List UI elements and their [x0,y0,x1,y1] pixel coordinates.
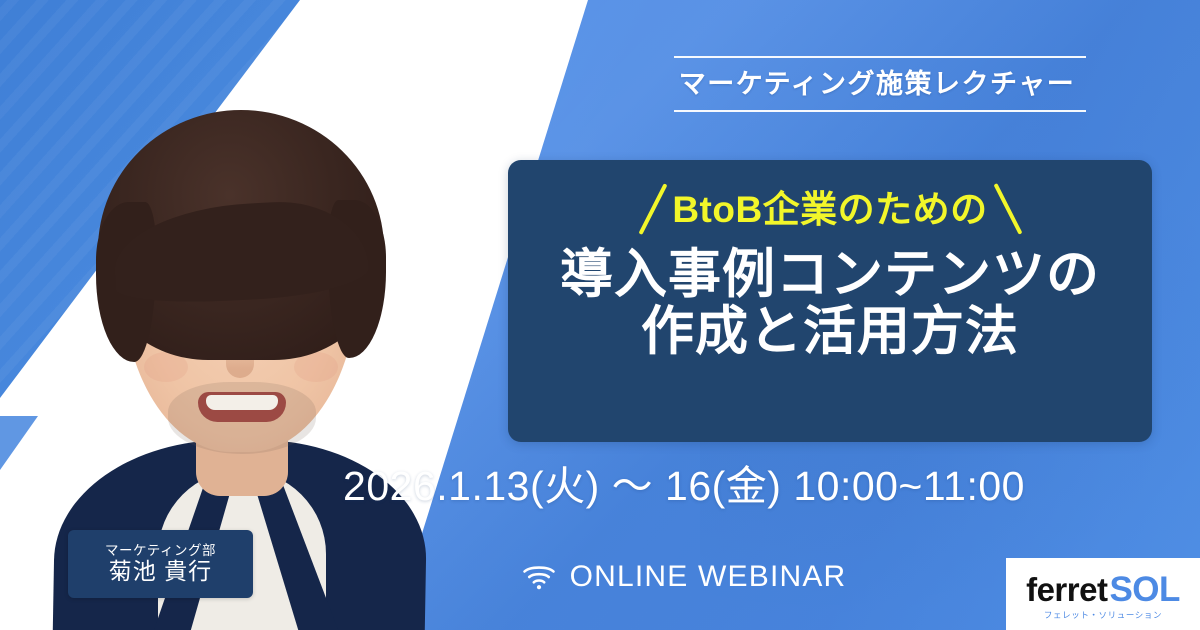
kicker-rule-bottom [674,110,1086,112]
kicker-text: マーケティング施策レクチャー [679,58,1076,110]
slash-right-icon [993,183,1022,234]
speaker-department: マーケティング部 [105,544,216,558]
ferret-sol-logo: ferret SOL フェレット・ソリューション [1006,558,1200,630]
logo-wordmark: ferret SOL [1026,572,1180,607]
title-lead-row: BtoB企業のための [508,178,1152,240]
kicker-block: マーケティング施策レクチャー [600,56,1090,112]
portrait-teeth [206,395,278,410]
logo-sol-text: SOL [1109,572,1179,607]
portrait-mouth [198,392,286,422]
title-line-2: 作成と活用方法 [560,303,1100,360]
logo-ferret-text: ferret [1026,573,1107,606]
title-card: BtoB企業のための 導入事例コンテンツの 作成と活用方法 [508,160,1152,442]
title-lead-text: BtoB企業のための [672,191,987,228]
wifi-icon [522,564,556,590]
title-line-1: 導入事例コンテンツの [560,245,1100,304]
kicker-rule-top [674,56,1086,58]
slash-left-icon [638,183,667,234]
logo-tagline: フェレット・ソリューション [1044,611,1162,620]
schedule-dateline: 2026.1.13(火) 〜 16(金) 10:00~11:00 [0,466,1200,507]
online-webinar-label: ONLINE WEBINAR [570,562,847,592]
title-main: 導入事例コンテンツの 作成と活用方法 [560,246,1100,360]
webinar-banner: マーケティング部 菊池 貴行 マーケティング施策レクチャー BtoB企業のための… [0,0,1200,630]
